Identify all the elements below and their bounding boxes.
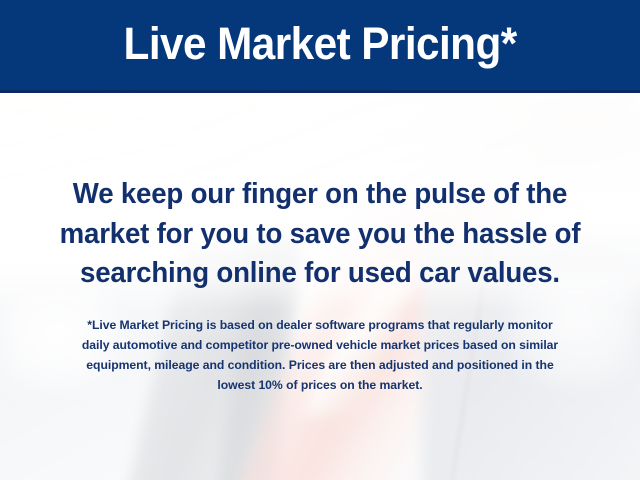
live-market-pricing-promo-card: Live Market Pricing* We keep our finger … <box>0 0 640 480</box>
headline-line-3: searching online for used car values. <box>37 254 603 294</box>
content-area: We keep our finger on the pulse of the m… <box>0 93 640 480</box>
headline-line-1: We keep our finger on the pulse of the <box>37 175 603 215</box>
page-title: Live Market Pricing* <box>123 21 516 66</box>
disclaimer-line-3: equipment, mileage and condition. Prices… <box>34 355 605 375</box>
headline-line-2: market for you to save you the hassle of <box>37 215 603 255</box>
headline-block: We keep our finger on the pulse of the m… <box>37 175 603 294</box>
header-banner: Live Market Pricing* <box>0 0 640 90</box>
disclaimer-line-4: lowest 10% of prices on the market. <box>34 375 605 395</box>
disclaimer-line-1: *Live Market Pricing is based on dealer … <box>34 315 605 335</box>
disclaimer-block: *Live Market Pricing is based on dealer … <box>34 315 605 395</box>
disclaimer-line-2: daily automotive and competitor pre-owne… <box>34 335 605 355</box>
